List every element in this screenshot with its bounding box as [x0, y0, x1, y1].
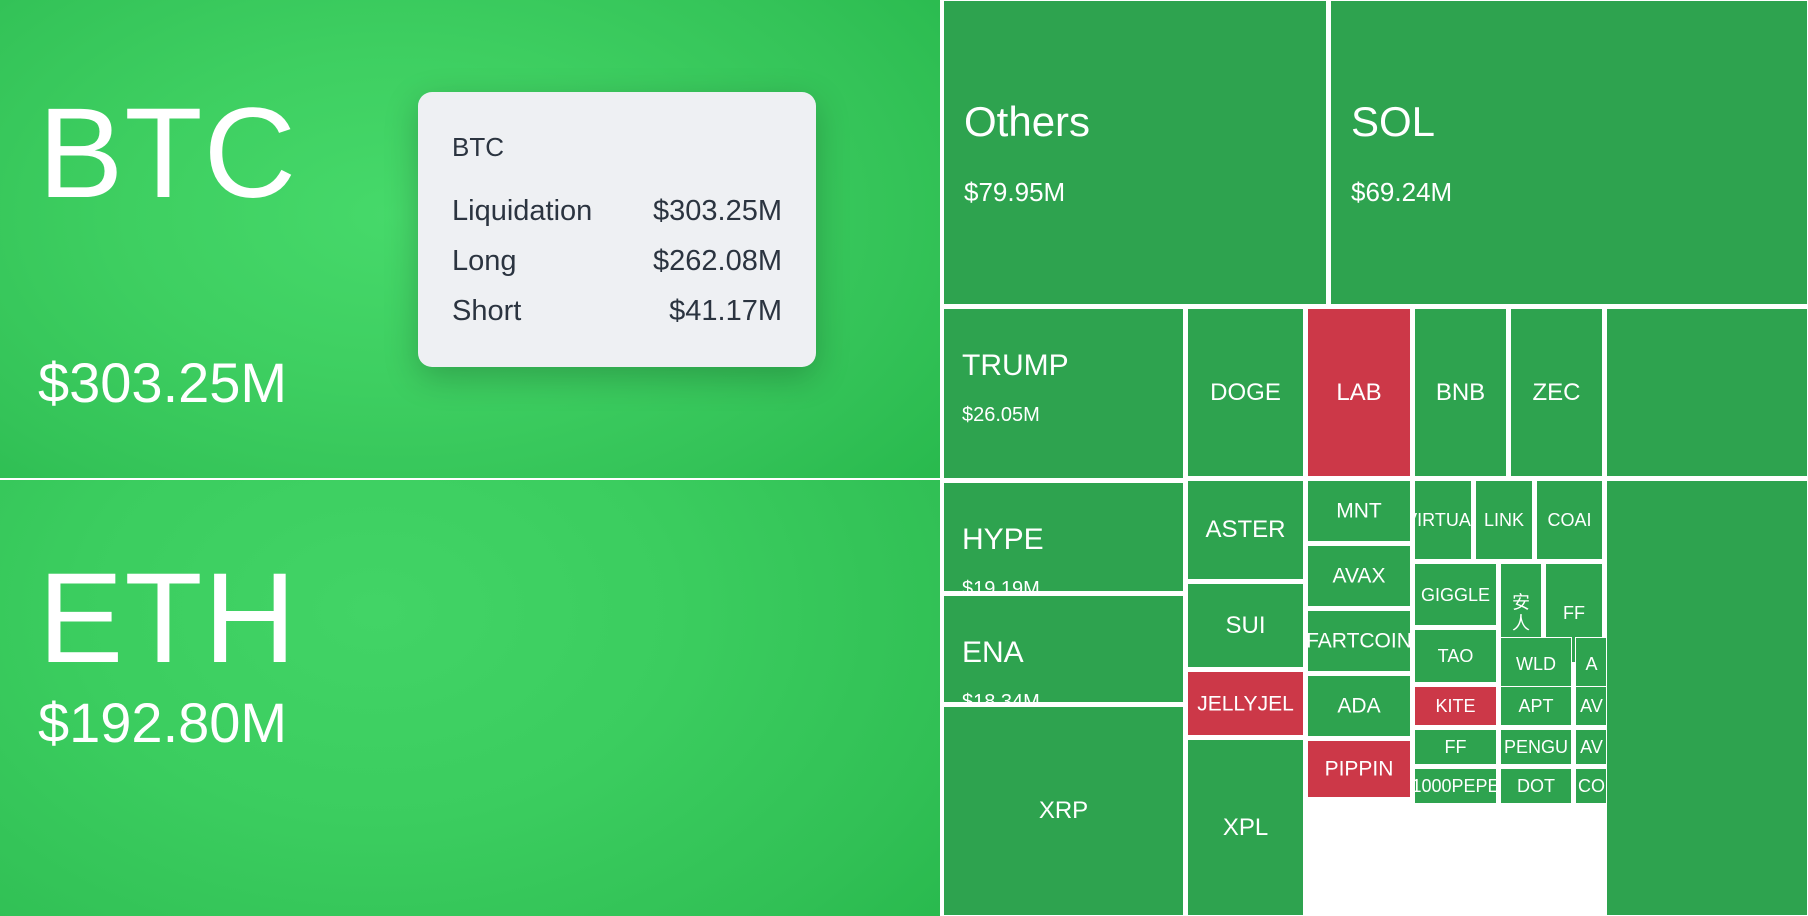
treemap-tile[interactable]: AV — [1575, 686, 1608, 726]
tile-label: PENGU — [1504, 738, 1568, 756]
tile-label: KITE — [1435, 697, 1475, 715]
tile-label: SOL — [1351, 101, 1435, 143]
tile-label: AV — [1580, 697, 1603, 715]
treemap-tile[interactable]: WLD — [1500, 637, 1572, 691]
tooltip: BTC Liquidation $303.25M Long $262.08M S… — [418, 92, 816, 367]
treemap-tile[interactable]: ETH$192.80M — [0, 480, 940, 916]
tile-value: $19.19M — [962, 579, 1040, 592]
treemap-tile[interactable]: 1000PEPE — [1414, 768, 1497, 804]
tile-label: APT — [1518, 697, 1553, 715]
tooltip-row-liquidation: Liquidation $303.25M — [452, 195, 782, 228]
tooltip-value-long: $262.08M — [653, 245, 782, 278]
tooltip-key-short: Short — [452, 295, 521, 328]
tile-label: HYPE — [962, 525, 1044, 555]
tile-label: AV — [1580, 738, 1603, 756]
tile-value: $69.24M — [1351, 179, 1452, 205]
treemap-tile[interactable]: DOGE — [1187, 308, 1304, 477]
tile-label: A — [1585, 655, 1597, 673]
tile-label: WLD — [1516, 655, 1556, 673]
tile-label: VIRTUAL — [1414, 511, 1472, 529]
tile-label: BTC — [38, 90, 297, 218]
treemap-tile[interactable]: CO — [1575, 768, 1608, 804]
tile-value: $79.95M — [964, 179, 1065, 205]
treemap-tile[interactable]: LAB — [1307, 308, 1411, 477]
tile-value: $303.25M — [38, 355, 287, 411]
tile-label: GIGGLE — [1421, 586, 1490, 604]
tile-label: CO — [1578, 777, 1605, 795]
tile-label: LINK — [1484, 511, 1524, 529]
tile-label: FF — [1563, 604, 1585, 622]
treemap-tile[interactable]: JELLYJEL — [1187, 671, 1304, 736]
tile-value: $26.05M — [962, 405, 1040, 425]
tooltip-row-long: Long $262.08M — [452, 245, 782, 278]
tile-label: ASTER — [1205, 518, 1285, 542]
tile-value: $18.34M — [962, 692, 1040, 703]
tile-label: ADA — [1337, 696, 1380, 717]
tile-value: $192.80M — [38, 695, 287, 751]
tile-label: DOGE — [1210, 381, 1281, 405]
treemap-tile[interactable]: KITE — [1414, 686, 1497, 726]
tile-label: FF — [1445, 738, 1467, 756]
treemap-tile[interactable]: ASTER — [1187, 480, 1304, 580]
tile-label: XPL — [1223, 816, 1268, 840]
tile-label: BNB — [1436, 381, 1485, 405]
treemap-tile[interactable]: VIRTUAL — [1414, 480, 1472, 560]
tile-label: COAI — [1547, 511, 1591, 529]
treemap-tile[interactable]: SUI — [1187, 583, 1304, 668]
treemap-tile[interactable]: BNB — [1414, 308, 1507, 477]
treemap-tile[interactable]: XRP — [943, 706, 1184, 916]
treemap-tile[interactable]: AV — [1575, 729, 1608, 765]
treemap-tile[interactable]: COAI — [1536, 480, 1603, 560]
treemap-tile[interactable]: XPL — [1187, 739, 1304, 916]
tooltip-symbol: BTC — [452, 132, 782, 163]
treemap-tile[interactable]: AVAX — [1307, 545, 1411, 607]
tile-label: DOT — [1517, 777, 1555, 795]
treemap-tile[interactable]: HYPE$19.19M — [943, 482, 1184, 592]
tile-label: TAO — [1438, 647, 1474, 665]
tooltip-key-liquidation: Liquidation — [452, 195, 592, 228]
tooltip-value-short: $41.17M — [669, 295, 782, 328]
tile-label: LAB — [1336, 381, 1381, 405]
tile-label: ZEC — [1533, 381, 1581, 405]
treemap-tile[interactable]: APT — [1500, 686, 1572, 726]
tile-label: FARTCOIN — [1307, 631, 1411, 652]
tile-label: Others — [964, 101, 1090, 143]
treemap-tile[interactable]: DOT — [1500, 768, 1572, 804]
tile-label: TRUMP — [962, 351, 1069, 381]
treemap-tile[interactable]: SOL$69.24M — [1330, 0, 1808, 305]
treemap-tile[interactable]: TAO — [1414, 629, 1497, 683]
treemap-tile[interactable]: FF — [1414, 729, 1497, 765]
tooltip-row-short: Short $41.17M — [452, 295, 782, 328]
tile-label: ENA — [962, 638, 1024, 668]
treemap-tile[interactable] — [1606, 480, 1808, 916]
treemap-tile[interactable]: ZEC — [1510, 308, 1603, 477]
treemap-tile[interactable]: MNT — [1307, 480, 1411, 542]
treemap-canvas: BTC$303.25METH$192.80MOthers$79.95MSOL$6… — [0, 0, 1808, 916]
treemap-tile[interactable]: PENGU — [1500, 729, 1572, 765]
treemap-tile[interactable]: GIGGLE — [1414, 563, 1497, 626]
tile-label: 1000PEPE — [1414, 777, 1497, 795]
treemap-tile[interactable]: A — [1575, 637, 1608, 691]
tooltip-key-long: Long — [452, 245, 517, 278]
tile-label: MNT — [1336, 501, 1382, 522]
treemap-tile[interactable]: TRUMP$26.05M — [943, 308, 1184, 479]
mega-tile-divider — [0, 478, 940, 480]
tooltip-value-liquidation: $303.25M — [653, 195, 782, 228]
tile-label: PIPPIN — [1325, 759, 1394, 780]
treemap-tile[interactable]: LINK — [1475, 480, 1533, 560]
tile-label: 安人 — [1510, 592, 1532, 633]
treemap-tile[interactable]: FARTCOIN — [1307, 610, 1411, 672]
treemap-tile[interactable] — [1606, 308, 1808, 477]
tile-label: JELLYJEL — [1197, 693, 1294, 714]
tile-label: AVAX — [1333, 566, 1386, 587]
panel-divider — [940, 0, 943, 916]
treemap-tile[interactable]: ADA — [1307, 675, 1411, 737]
treemap-tile[interactable]: ENA$18.34M — [943, 595, 1184, 703]
treemap-tile[interactable]: Others$79.95M — [943, 0, 1327, 305]
tile-label: SUI — [1225, 614, 1265, 638]
treemap-tile[interactable]: PIPPIN — [1307, 740, 1411, 798]
tile-label: ETH — [38, 555, 297, 683]
tile-label: XRP — [1039, 799, 1088, 823]
